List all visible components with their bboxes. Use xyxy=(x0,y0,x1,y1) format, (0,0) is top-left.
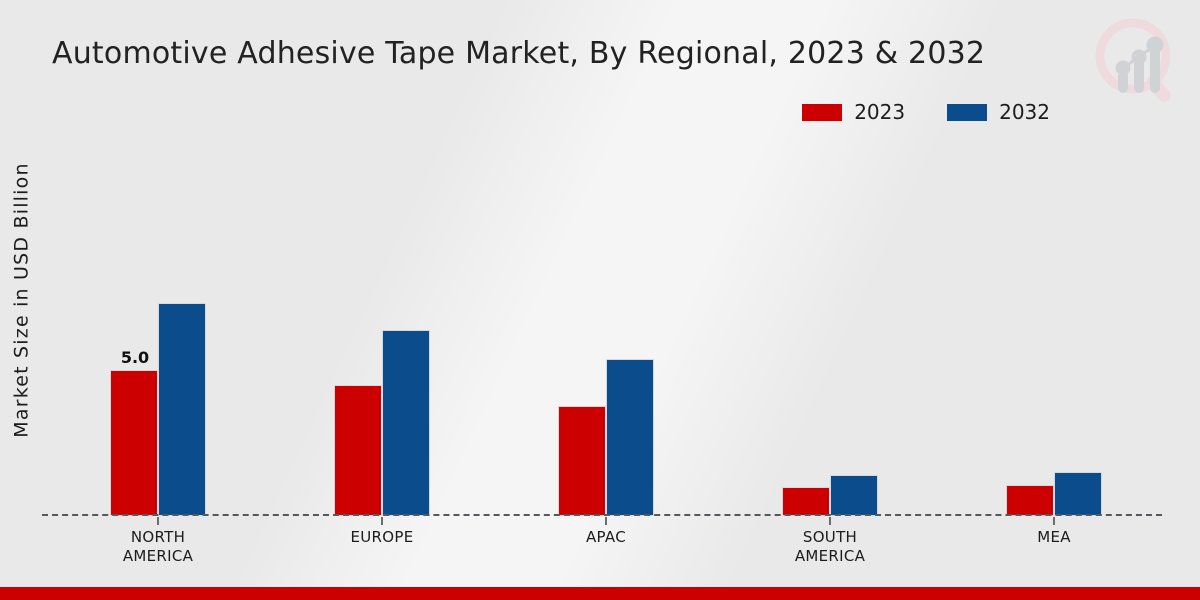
x-axis-tick-north-america xyxy=(157,517,159,525)
x-axis-label-line1: EUROPE xyxy=(272,528,492,547)
x-axis-label-line1: NORTH xyxy=(48,528,268,547)
plot-area: 5.0 xyxy=(42,140,1162,516)
x-axis-label-line2: AMERICA xyxy=(720,547,940,566)
x-axis-label-south-america: SOUTH AMERICA xyxy=(720,528,940,566)
bar-2023-north-america[interactable]: 5.0 xyxy=(110,370,158,516)
bar-2032-south-america[interactable] xyxy=(830,475,878,516)
legend-item-2023[interactable]: 2023 xyxy=(802,100,905,124)
bar-2023-mea[interactable] xyxy=(1006,485,1054,516)
y-axis-title: Market Size in USD Billion xyxy=(2,0,42,600)
chart-canvas: Automotive Adhesive Tape Market, By Regi… xyxy=(0,0,1200,600)
x-axis-tick-south-america xyxy=(829,517,831,525)
y-axis-title-text: Market Size in USD Billion xyxy=(11,162,33,437)
bar-value-label: 5.0 xyxy=(111,348,159,371)
x-axis-label-north-america: NORTH AMERICA xyxy=(48,528,268,566)
legend-swatch-2032 xyxy=(947,104,987,121)
chart-legend: 2023 2032 xyxy=(802,100,1050,124)
x-axis-tick-mea xyxy=(1053,517,1055,525)
bar-2032-apac[interactable] xyxy=(606,359,654,516)
bar-2023-apac[interactable] xyxy=(558,406,606,516)
page-title: Automotive Adhesive Tape Market, By Regi… xyxy=(52,36,985,71)
bar-chart-icon xyxy=(1116,37,1164,94)
legend-label-2032: 2032 xyxy=(999,100,1050,124)
x-axis-label-line1: SOUTH xyxy=(720,528,940,547)
x-axis-baseline xyxy=(42,514,1162,516)
legend-label-2023: 2023 xyxy=(854,100,905,124)
x-axis-tick-apac xyxy=(605,517,607,525)
x-axis-label-line1: APAC xyxy=(496,528,716,547)
bar-2032-north-america[interactable] xyxy=(158,303,206,516)
legend-swatch-2023 xyxy=(802,104,842,121)
bar-2023-south-america[interactable] xyxy=(782,487,830,516)
bar-2023-europe[interactable] xyxy=(334,385,382,516)
x-axis-label-line1: MEA xyxy=(944,528,1164,547)
x-axis-label-europe: EUROPE xyxy=(272,528,492,547)
legend-item-2032[interactable]: 2032 xyxy=(947,100,1050,124)
x-axis-label-mea: MEA xyxy=(944,528,1164,547)
watermark-logo xyxy=(1090,14,1186,110)
x-axis-label-apac: APAC xyxy=(496,528,716,547)
magnifier-icon xyxy=(1100,23,1173,104)
x-axis-tick-europe xyxy=(381,517,383,525)
bar-2032-europe[interactable] xyxy=(382,330,430,516)
bar-2032-mea[interactable] xyxy=(1054,472,1102,516)
bottom-accent-strip xyxy=(0,587,1200,600)
x-axis-label-line2: AMERICA xyxy=(48,547,268,566)
